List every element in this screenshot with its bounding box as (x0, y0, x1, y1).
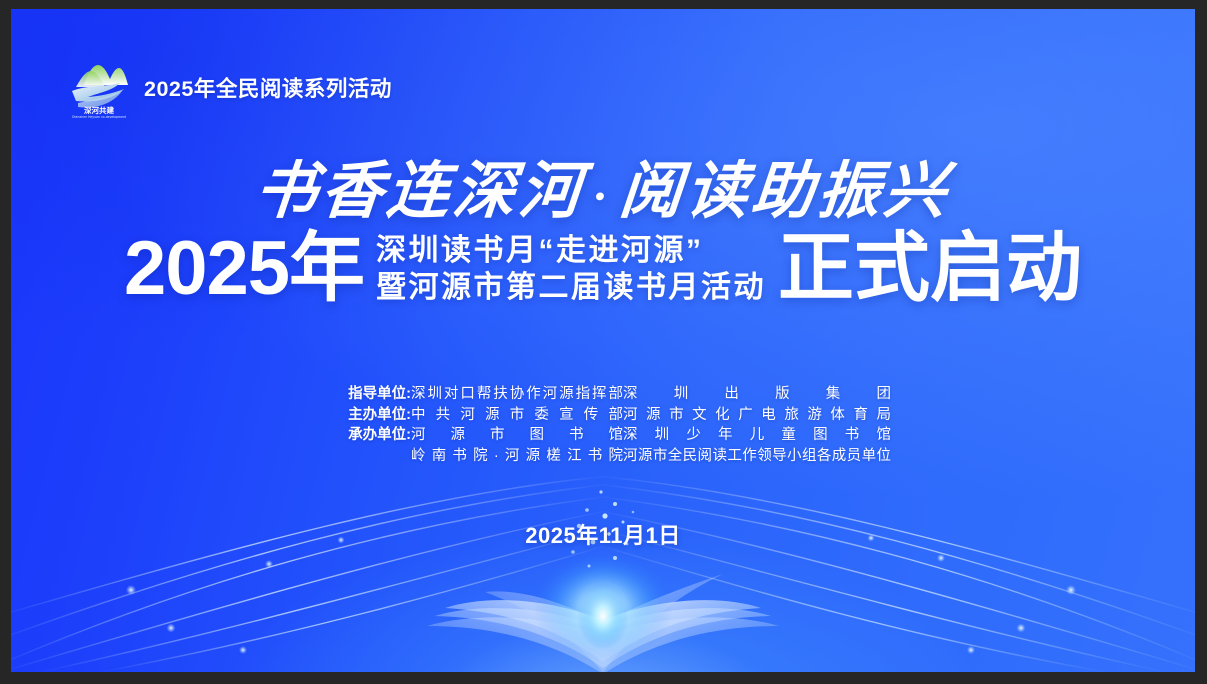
headline-middle: 深圳读书月“走进河源” 暨河源市第二届读书月活动 (370, 233, 772, 306)
credits-row: 承办单位: 河源市图书馆 深圳少年儿童图书馆 (315, 425, 891, 446)
shenhe-cooperation-logo: 深河共建 Shenzhen Heyuan co-development (68, 55, 130, 119)
credits-org-b: 河源市全民阅读工作领导小组各成员单位 (623, 446, 891, 467)
light-rays-icon (11, 432, 1195, 672)
credits-row: 主办单位: 中共河源市委宣传部 河源市文化广电旅游体育局 (315, 405, 891, 426)
headline-tail: 正式启动 (778, 231, 1082, 307)
credits-block: 指导单位: 深圳对口帮扶协作河源指挥部 深圳出版集团 主办单位: 中共河源市委宣… (11, 384, 1195, 466)
poster-frame: 深河共建 Shenzhen Heyuan co-development 2025… (0, 0, 1207, 684)
credits-org-a: 河源市图书馆 (411, 425, 623, 446)
headline-line-1: 深圳读书月“走进河源” (376, 233, 766, 268)
slogan-right: 阅读助振兴 (617, 154, 953, 227)
credits-org-b: 深圳少年儿童图书馆 (623, 425, 891, 446)
logo-chinese-text: 深河共建 (84, 105, 114, 115)
credits-org-a: 岭南书院·河源槎江书院 (411, 446, 623, 467)
logo-english-text: Shenzhen Heyuan co-development (72, 115, 127, 119)
credits-label (315, 446, 411, 467)
credits-org-a: 深圳对口帮扶协作河源指挥部 (411, 384, 623, 405)
header-title: 2025年全民阅读系列活动 (144, 72, 392, 103)
headline: 2025年 深圳读书月“走进河源” 暨河源市第二届读书月活动 正式启动 (11, 231, 1195, 307)
credits-label: 主办单位: (315, 405, 411, 426)
slogan: 书香连深河·阅读助振兴 (11, 140, 1195, 230)
bottom-glow (11, 472, 1195, 672)
headline-year: 2025年 (124, 231, 364, 307)
slogan-separator: · (583, 172, 622, 221)
slogan-left: 书香连深河 (252, 154, 588, 227)
credits-label: 指导单位: (315, 384, 411, 405)
credits-table: 指导单位: 深圳对口帮扶协作河源指挥部 深圳出版集团 主办单位: 中共河源市委宣… (315, 384, 891, 466)
event-date: 2025年11月1日 (11, 518, 1195, 550)
credits-row: 岭南书院·河源槎江书院 河源市全民阅读工作领导小组各成员单位 (315, 446, 891, 467)
header: 深河共建 Shenzhen Heyuan co-development 2025… (68, 55, 392, 119)
credits-label: 承办单位: (315, 425, 411, 446)
credits-row: 指导单位: 深圳对口帮扶协作河源指挥部 深圳出版集团 (315, 384, 891, 405)
credits-org-b: 河源市文化广电旅游体育局 (623, 405, 891, 426)
credits-org-b: 深圳出版集团 (623, 384, 891, 405)
credits-org-a: 中共河源市委宣传部 (411, 405, 623, 426)
headline-line-2: 暨河源市第二届读书月活动 (376, 270, 766, 305)
poster-canvas: 深河共建 Shenzhen Heyuan co-development 2025… (11, 9, 1195, 672)
